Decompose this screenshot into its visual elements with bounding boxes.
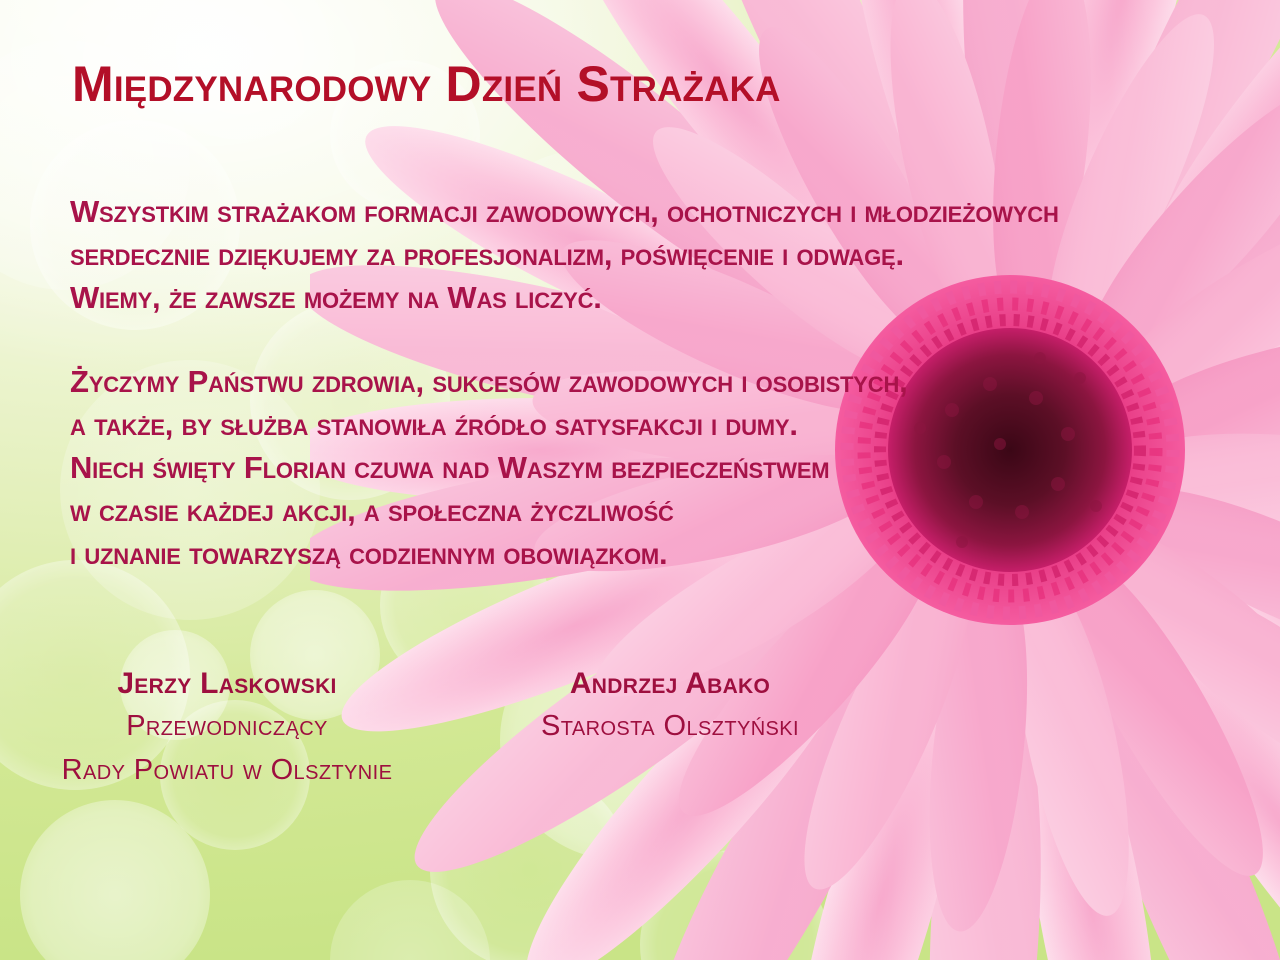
signature-left-name: Jerzy Laskowski	[12, 664, 442, 704]
paragraph-2-line-4: w czasie każdej akcji, a społeczna życzl…	[70, 489, 908, 532]
paragraph-wishes: Życzymy Państwu zdrowia, sukcesów zawodo…	[70, 360, 908, 575]
signature-left: Jerzy Laskowski Przewodniczący Rady Powi…	[12, 664, 442, 792]
signature-right: Andrzej Abako Starosta Olsztyński	[455, 664, 885, 748]
paragraph-2-line-3: Niech święty Florian czuwa nad Waszym be…	[70, 446, 908, 489]
paragraph-1-line-3: Wiemy, że zawsze możemy na Was liczyć.	[70, 276, 1059, 319]
paragraph-2-line-2: a także, by służba stanowiła źródło saty…	[70, 403, 908, 446]
paragraph-2-line-5: i uznanie towarzyszą codziennym obowiązk…	[70, 532, 908, 575]
page-title: Międzynarodowy Dzień Strażaka	[72, 58, 781, 111]
paragraph-2-line-1: Życzymy Państwu zdrowia, sukcesów zawodo…	[70, 360, 908, 403]
signature-right-role-line-1: Starosta Olsztyński	[455, 704, 885, 748]
signature-left-role-line-2: Rady Powiatu w Olsztynie	[12, 748, 442, 792]
signature-right-name: Andrzej Abako	[455, 664, 885, 704]
paragraph-1-line-2: serdecznie dziękujemy za profesjonalizm,…	[70, 233, 1059, 276]
paragraph-1-line-1: Wszystkim strażakom formacji zawodowych,…	[70, 190, 1059, 233]
paragraph-thanks: Wszystkim strażakom formacji zawodowych,…	[70, 190, 1059, 319]
greeting-card: Międzynarodowy Dzień Strażaka Wszystkim …	[0, 0, 1280, 960]
signature-left-role-line-1: Przewodniczący	[12, 704, 442, 748]
text-layer: Międzynarodowy Dzień Strażaka Wszystkim …	[0, 0, 1280, 960]
